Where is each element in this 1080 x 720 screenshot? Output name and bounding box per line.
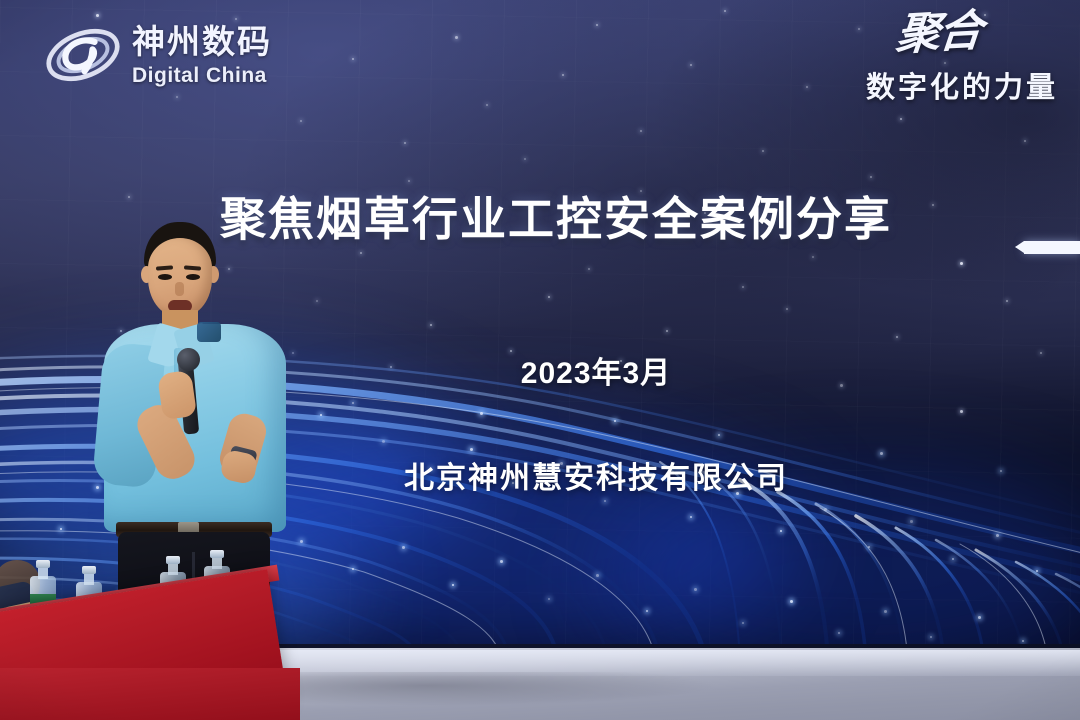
digital-china-swirl-logo xyxy=(44,16,122,94)
speaker-chest-logo xyxy=(197,322,221,342)
speaker-eye xyxy=(158,274,172,280)
digital-china-wordmark: 神州数码 Digital China xyxy=(132,25,272,86)
brand-name-cn: 神州数码 xyxy=(132,25,272,58)
speaker-nose xyxy=(175,282,184,296)
slide-edge-accent-bar xyxy=(1024,241,1080,254)
speaker-eye xyxy=(186,274,200,280)
floor-shadow xyxy=(300,672,720,706)
slogan-subtitle: 数字化的力量 xyxy=(796,64,1058,106)
conference-photo: 神州数码 Digital China 聚合 数字化的力量 聚焦烟草行业工控安全案… xyxy=(0,0,1080,720)
red-table-skirt-lower xyxy=(0,668,300,720)
digital-china-brand: 神州数码 Digital China xyxy=(44,16,272,94)
event-slogan: 聚合 数字化的力量 xyxy=(796,14,1058,106)
brand-name-en: Digital China xyxy=(132,65,272,86)
slogan-calligraphy: 聚合 xyxy=(794,9,983,63)
